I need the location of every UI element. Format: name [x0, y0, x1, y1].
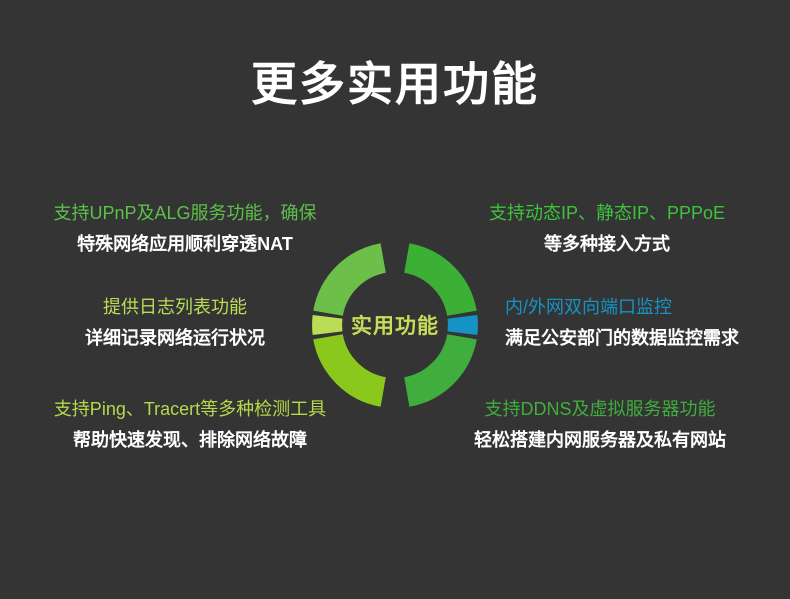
donut-segment-ping-tracert[interactable] — [328, 337, 383, 392]
callout-headline: 支持动态IP、静态IP、PPPoE — [462, 198, 752, 228]
callout-headline: 支持DDNS及虚拟服务器功能 — [440, 394, 760, 424]
callout-wan-access: 支持动态IP、静态IP、PPPoE 等多种接入方式 — [462, 198, 752, 260]
callout-subline: 详细记录网络运行状况 — [30, 322, 320, 354]
callout-subline: 满足公安部门的数据监控需求 — [505, 322, 790, 354]
callout-ping-tracert: 支持Ping、Tracert等多种检测工具 帮助快速发现、排除网络故障 — [20, 394, 360, 456]
callout-log-list: 提供日志列表功能 详细记录网络运行状况 — [30, 292, 320, 354]
donut-chart: 实用功能 — [305, 235, 485, 415]
callout-port-monitoring: 内/外网双向端口监控 满足公安部门的数据监控需求 — [505, 292, 790, 354]
donut-svg — [305, 235, 485, 415]
callout-headline: 提供日志列表功能 — [30, 292, 320, 322]
callout-subline: 特殊网络应用顺利穿透NAT — [40, 228, 330, 260]
callout-upnp-alg: 支持UPnP及ALG服务功能，确保 特殊网络应用顺利穿透NAT — [40, 198, 330, 260]
callout-headline: 支持UPnP及ALG服务功能，确保 — [40, 198, 330, 228]
donut-segment-wan-access-arc[interactable] — [407, 258, 462, 313]
page-title: 更多实用功能 — [0, 56, 790, 114]
callout-subline: 轻松搭建内网服务器及私有网站 — [440, 424, 760, 456]
donut-segment-ddns-virtual[interactable] — [407, 337, 462, 392]
callout-subline: 等多种接入方式 — [462, 228, 752, 260]
callout-ddns-virtual: 支持DDNS及虚拟服务器功能 轻松搭建内网服务器及私有网站 — [440, 394, 760, 456]
callout-headline: 内/外网双向端口监控 — [505, 292, 790, 322]
donut-segment-upnp-alg[interactable] — [328, 258, 383, 313]
callout-subline: 帮助快速发现、排除网络故障 — [20, 424, 360, 456]
callout-headline: 支持Ping、Tracert等多种检测工具 — [20, 394, 360, 424]
infographic-page: 更多实用功能 — [0, 0, 790, 599]
